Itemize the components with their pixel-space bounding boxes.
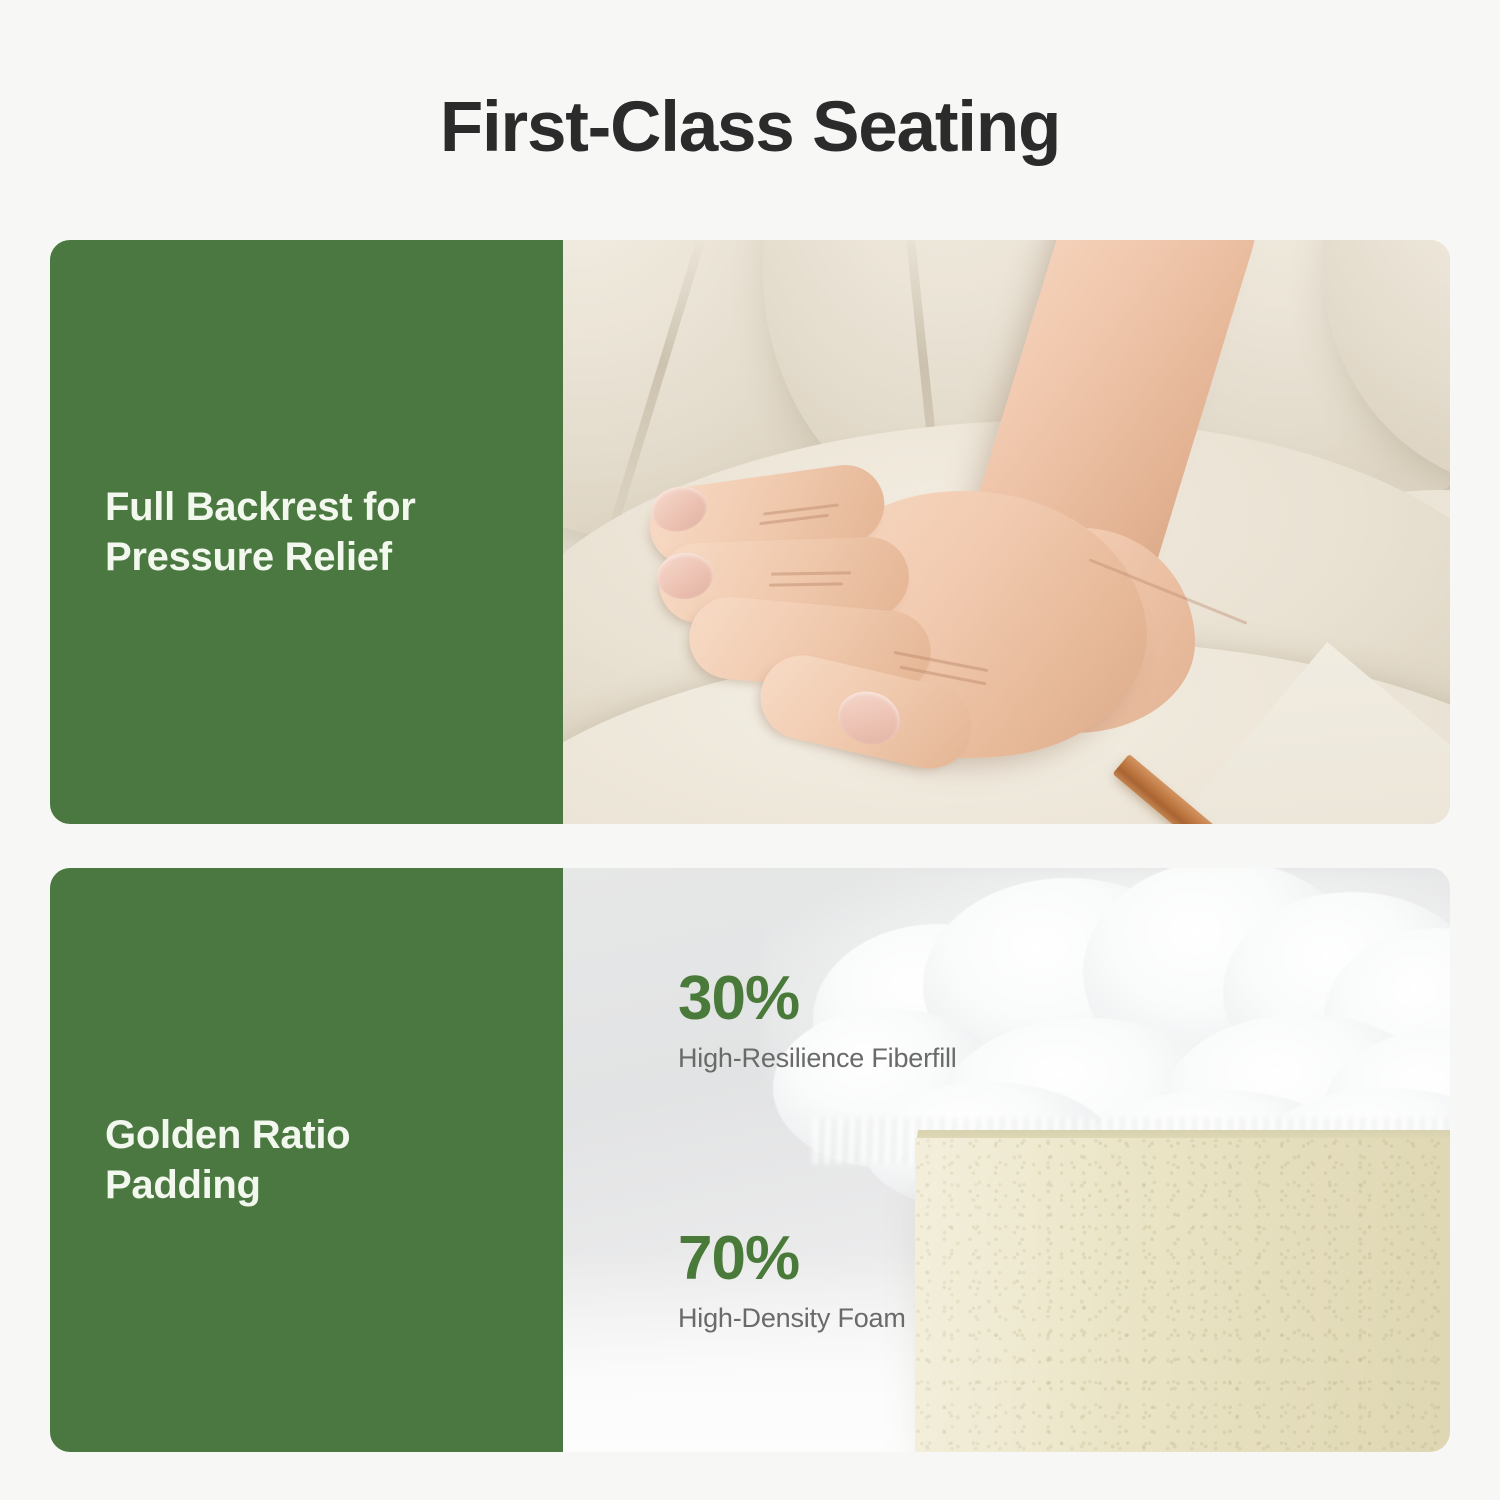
panel-label-text-padding: Golden Ratio Padding <box>50 1110 370 1211</box>
callout-fiberfill-description: High-Resilience Fiberfill <box>678 1044 957 1074</box>
callout-foam-description: High-Density Foam <box>678 1304 906 1334</box>
panel-label-padding: Golden Ratio Padding <box>50 868 563 1452</box>
foam-shading <box>915 1138 1450 1452</box>
callout-foam-percent: 70% <box>678 1228 906 1290</box>
panel-label-text-backrest: Full Backrest for Pressure Relief <box>50 482 436 583</box>
callout-foam: 70% High-Density Foam <box>678 1228 906 1334</box>
panel-label-backrest: Full Backrest for Pressure Relief <box>50 240 563 824</box>
feature-panel-padding: Golden Ratio Padding <box>50 868 1450 1452</box>
page-title: First-Class Seating <box>0 92 1500 163</box>
callout-fiberfill-percent: 30% <box>678 968 957 1030</box>
panel-media-padding: 30% High-Resilience Fiberfill 70% High-D… <box>563 868 1450 1452</box>
cushion-photo <box>563 240 1450 824</box>
callout-fiberfill: 30% High-Resilience Fiberfill <box>678 968 957 1074</box>
foam-cross-section-photo: 30% High-Resilience Fiberfill 70% High-D… <box>563 868 1450 1452</box>
feature-panel-backrest: Full Backrest for Pressure Relief <box>50 240 1450 824</box>
panel-media-backrest <box>563 240 1450 824</box>
infographic-page: First-Class Seating Full Backrest for Pr… <box>0 0 1500 1500</box>
